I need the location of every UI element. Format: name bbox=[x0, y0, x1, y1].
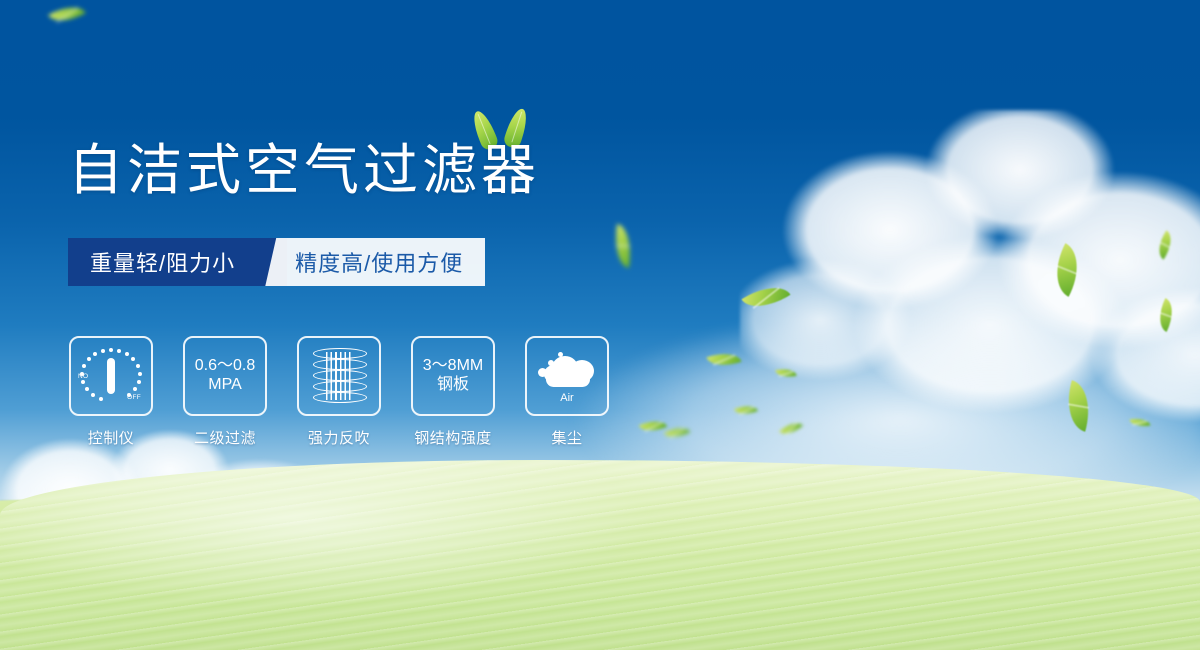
feature-caption: 钢结构强度 bbox=[414, 427, 492, 448]
feature-icon-box: NO OFF bbox=[69, 336, 153, 416]
filter-stack-icon bbox=[313, 348, 365, 404]
headline: 自洁式空气过滤器 bbox=[68, 143, 540, 198]
subtitle-bar: 重量轻/阻力小 精度高/使用方便 bbox=[68, 238, 485, 286]
air-label: Air bbox=[536, 392, 598, 404]
air-cloud-base bbox=[546, 372, 590, 387]
product-banner: 自洁式空气过滤器 重量轻/阻力小 精度高/使用方便 NO OFF bbox=[0, 0, 1200, 650]
air-cloud-icon: Air bbox=[536, 348, 598, 404]
feature-caption: 控制仪 bbox=[88, 427, 135, 448]
cloud-large-right bbox=[740, 110, 1200, 440]
grass-highlight bbox=[0, 460, 1200, 650]
feature-item-controller[interactable]: NO OFF bbox=[68, 336, 154, 448]
feature-icon-box: Air bbox=[525, 336, 609, 416]
pressure-line-1: 0.6～0.8 bbox=[195, 357, 256, 376]
pressure-line-2: MPA bbox=[195, 376, 256, 395]
feature-caption: 二级过滤 bbox=[194, 427, 256, 448]
steel-line-1: 3～8MM bbox=[423, 357, 483, 376]
feature-icon-box: 3～8MM 钢板 bbox=[411, 336, 495, 416]
subtitle-right-pane: 精度高/使用方便 bbox=[287, 238, 485, 286]
gauge-needle bbox=[107, 358, 115, 394]
gauge-icon: NO OFF bbox=[79, 346, 143, 406]
steel-line-2: 钢板 bbox=[423, 376, 483, 395]
feature-item-steel-strength[interactable]: 3～8MM 钢板 钢结构强度 bbox=[410, 336, 496, 448]
feature-icon-box: 0.6～0.8 MPA bbox=[183, 336, 267, 416]
feature-caption: 强力反吹 bbox=[308, 427, 370, 448]
subtitle-left-pane: 重量轻/阻力小 bbox=[68, 238, 261, 286]
steel-plate-text-icon: 3～8MM 钢板 bbox=[423, 357, 483, 395]
feature-icon-box bbox=[297, 336, 381, 416]
feature-list: NO OFF bbox=[68, 336, 610, 448]
feature-caption: 集尘 bbox=[551, 427, 582, 448]
feature-item-two-stage-filter[interactable]: 0.6～0.8 MPA 二级过滤 bbox=[182, 336, 268, 448]
feature-item-backwash[interactable]: 强力反吹 bbox=[296, 336, 382, 448]
pressure-text-icon: 0.6～0.8 MPA bbox=[195, 357, 256, 395]
subtitle-divider bbox=[261, 238, 287, 286]
feature-item-dust-collection[interactable]: Air 集尘 bbox=[524, 336, 610, 448]
